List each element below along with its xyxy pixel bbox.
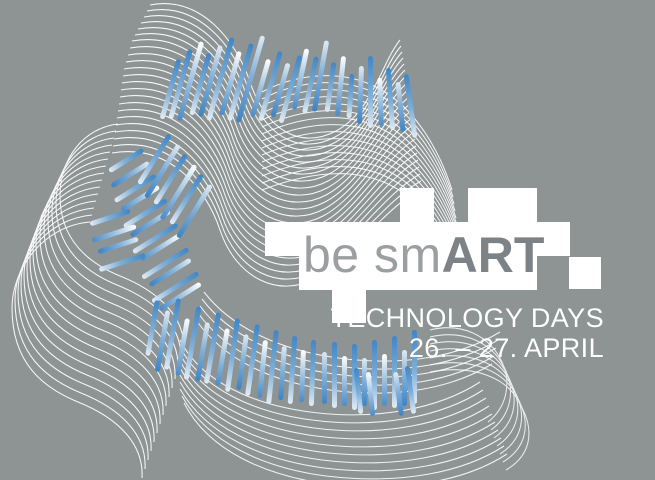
logo-block <box>468 188 537 222</box>
logo-wordmark: be smART <box>303 224 544 286</box>
tagline-event-name: TECHNOLOGY DAYS <box>274 303 604 333</box>
event-tagline: TECHNOLOGY DAYS 26. – 27. APRIL <box>274 303 604 364</box>
tagline-event-dates: 26. – 27. APRIL <box>274 333 604 364</box>
poster-canvas: be smART TECHNOLOGY DAYS 26. – 27. APRIL <box>0 0 655 480</box>
wordmark-bold-part: ART <box>442 230 545 280</box>
logo-block <box>400 188 434 222</box>
logo-block <box>265 222 299 256</box>
logo-block-detached <box>569 257 601 289</box>
wordmark-light-part: be sm <box>303 230 442 280</box>
